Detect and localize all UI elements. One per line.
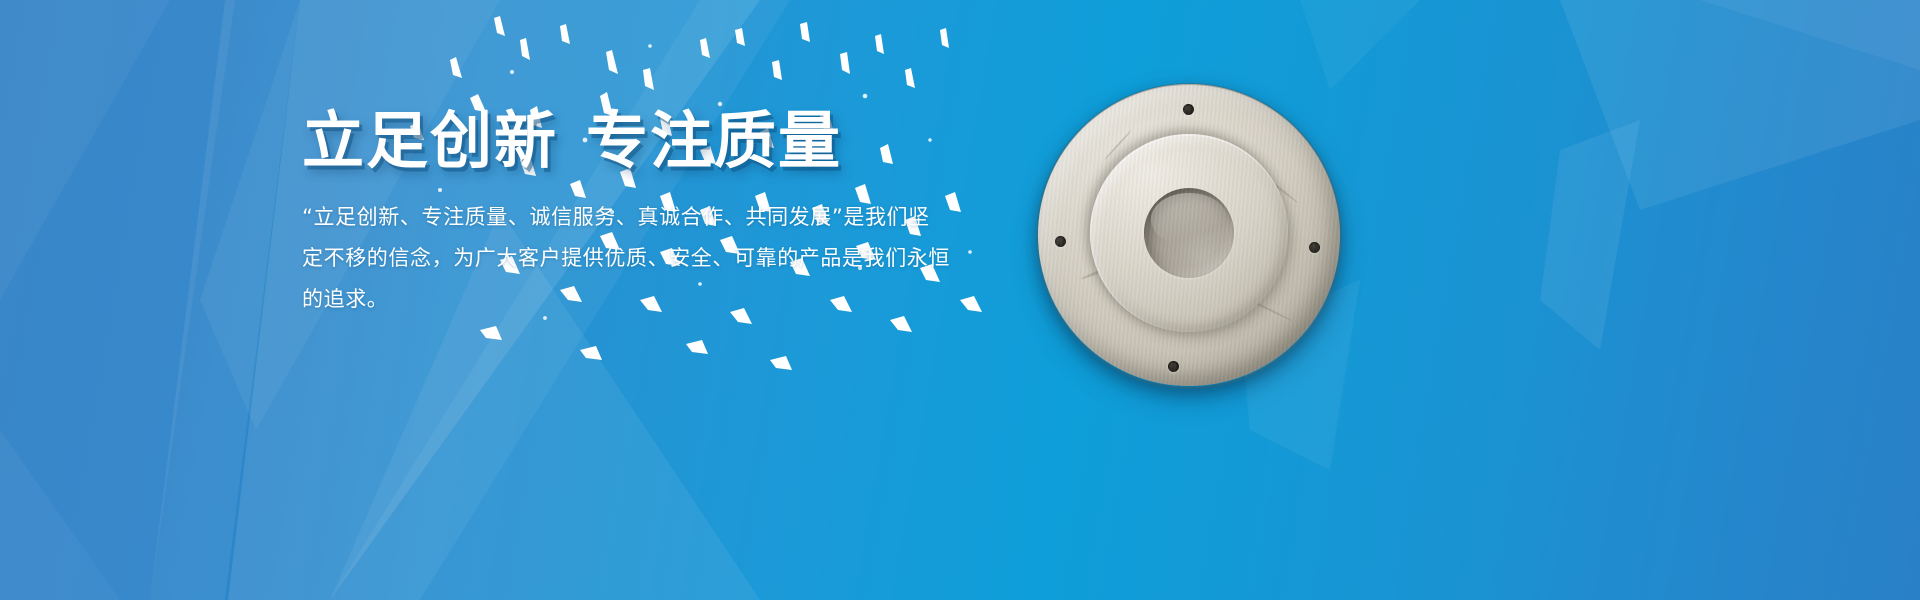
hero-banner: 立足创新专注质量 “立足创新、专注质量、诚信服务、真诚合作、共同发展”是我们坚 … [0,0,1920,600]
page-title: 立足创新专注质量 [302,108,962,175]
description-line-3: 的追求。 [302,279,962,320]
headline-part-one: 立足创新 [302,104,558,177]
headline-part-two: 专注质量 [586,104,842,177]
product-image [1038,84,1340,386]
description-line-1: “立足创新、专注质量、诚信服务、真诚合作、共同发展”是我们坚 [302,197,962,238]
description-line-2: 定不移的信念，为广大客户提供优质、安全、可靠的产品是我们永恒 [302,238,962,279]
banner-copy: 立足创新专注质量 “立足创新、专注质量、诚信服务、真诚合作、共同发展”是我们坚 … [302,108,962,320]
banner-description: “立足创新、专注质量、诚信服务、真诚合作、共同发展”是我们坚 定不移的信念，为广… [302,197,962,320]
flange-edge [1036,83,1342,389]
